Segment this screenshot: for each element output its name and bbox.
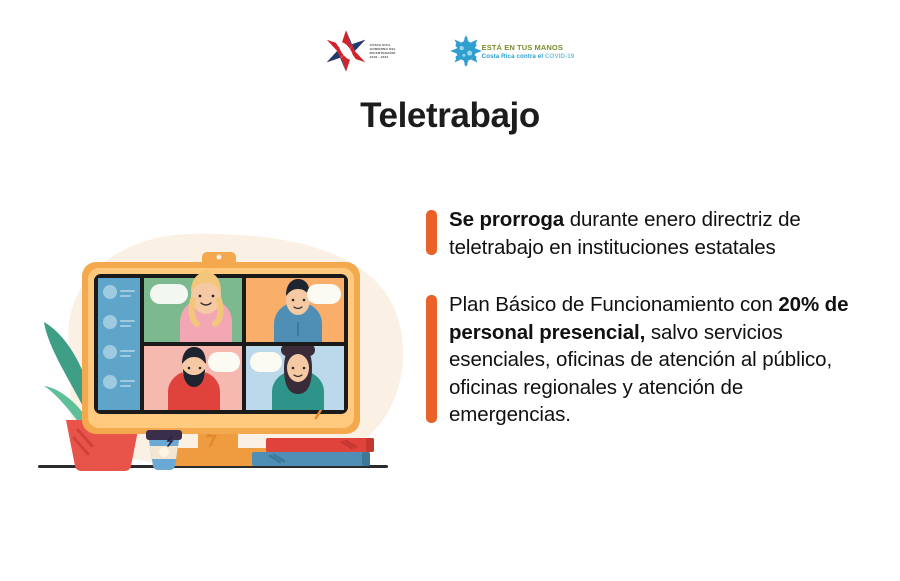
participant-tile-bottom-right (246, 344, 344, 410)
video-call-screen (98, 270, 348, 410)
gov-logo-line2: GOBIERNO DEL BICENTENARIO (370, 47, 406, 55)
covid-logo-line1: ESTÁ EN TUS MANOS (482, 43, 575, 52)
bullet-accent-bar (426, 210, 437, 255)
bullet-text-plan-basico: Plan Básico de Funcionamiento con 20% de… (449, 291, 856, 429)
costa-rica-government-logo: COSTA RICA GOBIERNO DEL BICENTENARIO 201… (326, 29, 406, 73)
header-logo-bar: COSTA RICA GOBIERNO DEL BICENTENARIO 201… (0, 22, 900, 80)
poster-canvas: COSTA RICA GOBIERNO DEL BICENTENARIO 201… (0, 0, 900, 581)
video-conference-illustration (30, 230, 420, 500)
book-stack (252, 438, 374, 466)
bullet-text-prorroga: Se prorroga durante enero directriz de t… (449, 206, 856, 261)
gov-logo-text: COSTA RICA GOBIERNO DEL BICENTENARIO 201… (370, 43, 406, 60)
coffee-cup-lid (146, 430, 182, 440)
covid-campaign-logo: ESTÁ EN TUS MANOS Costa Rica contra el C… (448, 32, 575, 70)
participant-tile-top-right (246, 278, 344, 342)
desktop-monitor (82, 252, 360, 466)
bullet-run-bold: Se prorroga (449, 208, 564, 231)
page-title: Teletrabajo (0, 96, 900, 136)
covid-logo-line2: Costa Rica contra el COVID-19 (482, 53, 575, 60)
book-blue (252, 452, 370, 466)
illustration-svg (30, 230, 420, 500)
virus-splash-icon (448, 32, 484, 70)
gov-logo-line3: 2018 - 2022 (370, 55, 406, 59)
covid-logo-line2-prefix: Costa Rica (482, 53, 517, 60)
bullet-block-prorroga: Se prorroga durante enero directriz de t… (426, 206, 856, 261)
bullet-accent-bar (426, 295, 437, 423)
book-red (266, 438, 374, 452)
covid-logo-line2-suffix: COVID-19 (545, 53, 574, 60)
covid-logo-text: ESTÁ EN TUS MANOS Costa Rica contra el C… (482, 43, 575, 60)
participant-tile-top-left (144, 270, 242, 342)
bullet-run-normal-1: Plan Básico de Funcionamiento con (449, 293, 778, 316)
costa-rica-star-logo-icon (326, 29, 366, 73)
covid-logo-line2-mid: contra el (516, 53, 545, 60)
content-column: Se prorroga durante enero directriz de t… (426, 206, 856, 459)
participants-sidebar (98, 278, 140, 410)
participant-tile-bottom-left (144, 346, 242, 410)
bullet-block-plan-basico: Plan Básico de Funcionamiento con 20% de… (426, 291, 856, 429)
